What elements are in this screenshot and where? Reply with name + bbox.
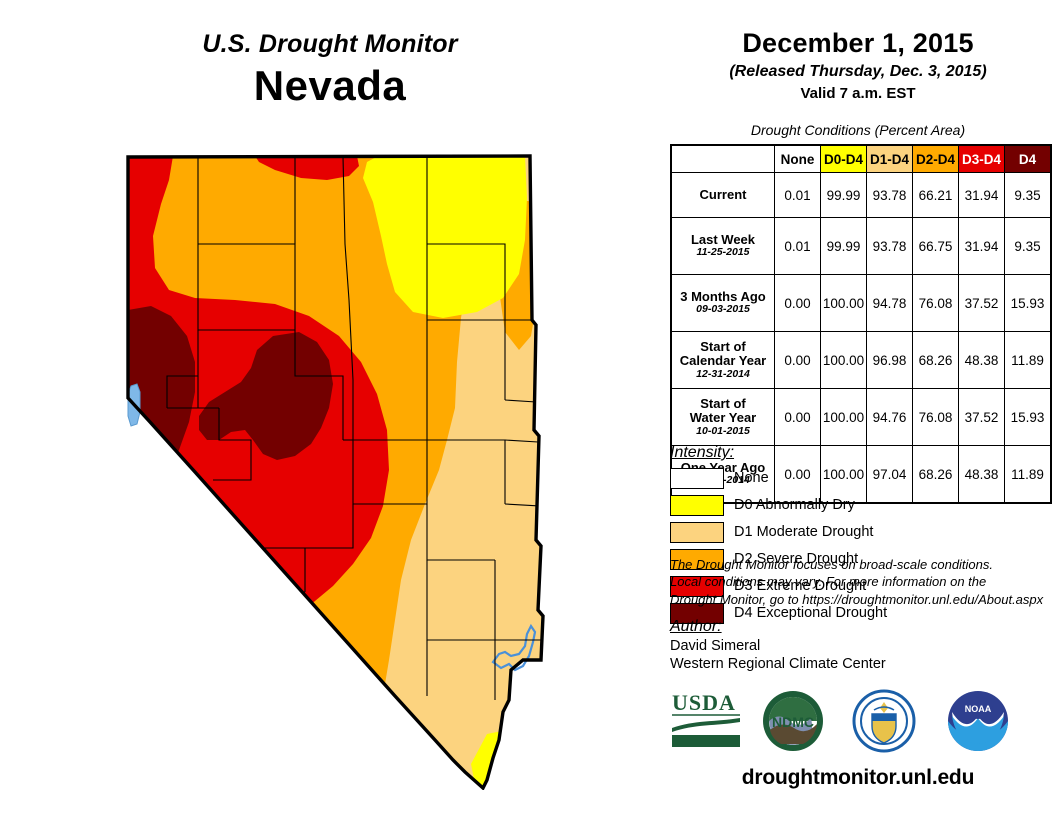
table-cell-value: 93.78 bbox=[867, 218, 913, 275]
table-cell-value: 93.78 bbox=[867, 173, 913, 218]
region-d4-south-blob bbox=[203, 588, 249, 634]
disclaimer-line-2: Local conditions may vary. For more info… bbox=[670, 573, 1055, 590]
table-cell-value: 15.93 bbox=[1005, 389, 1052, 446]
table-header-d1-d4: D1-D4 bbox=[867, 145, 913, 173]
table-row: 3 Months Ago09-03-20150.00100.0094.7876.… bbox=[671, 275, 1051, 332]
table-cell-value: 99.99 bbox=[821, 173, 867, 218]
table-cell-value: 94.78 bbox=[867, 275, 913, 332]
table-cell-value: 48.38 bbox=[959, 332, 1005, 389]
table-row-date: 09-03-2015 bbox=[674, 304, 772, 316]
author-label: Author: bbox=[670, 618, 722, 636]
table-cell-value: 100.00 bbox=[821, 332, 867, 389]
table-cell-value: 15.93 bbox=[1005, 275, 1052, 332]
table-row-label: Last Week11-25-2015 bbox=[671, 218, 775, 275]
table-header-d2-d4: D2-D4 bbox=[913, 145, 959, 173]
partner-logos: USDA NDMC bbox=[660, 688, 1056, 754]
legend-item: None bbox=[670, 466, 860, 490]
table-cell-value: 9.35 bbox=[1005, 218, 1052, 275]
legend-label: D1 Moderate Drought bbox=[734, 524, 873, 540]
table-cell-value: 66.21 bbox=[913, 173, 959, 218]
table-cell-value: 100.00 bbox=[821, 275, 867, 332]
map-svg bbox=[95, 140, 615, 790]
table-header-d4: D4 bbox=[1005, 145, 1052, 173]
author-name: David Simeral bbox=[670, 638, 760, 654]
table-cell-value: 31.94 bbox=[959, 173, 1005, 218]
table-header-d0-d4: D0-D4 bbox=[821, 145, 867, 173]
table-row-date: 12-31-2014 bbox=[674, 369, 772, 381]
table-cell-value: 66.75 bbox=[913, 218, 959, 275]
legend-label: None bbox=[734, 470, 769, 486]
author-organization: Western Regional Climate Center bbox=[670, 656, 886, 672]
usda-logo: USDA bbox=[672, 690, 740, 747]
table-cell-value: 0.01 bbox=[775, 218, 821, 275]
table-header-row: NoneD0-D4D1-D4D2-D4D3-D4D4 bbox=[671, 145, 1051, 173]
noaa-logo: NOAA bbox=[948, 691, 1008, 751]
table-row: Current0.0199.9993.7866.2131.949.35 bbox=[671, 173, 1051, 218]
table-row-date: 10-01-2015 bbox=[674, 426, 772, 438]
legend-title: Intensity: bbox=[670, 444, 734, 462]
usdoc-seal-logo bbox=[854, 691, 914, 751]
table-cell-value: 0.00 bbox=[775, 332, 821, 389]
table-cell-value: 0.01 bbox=[775, 173, 821, 218]
table-row-label: Start ofWater Year10-01-2015 bbox=[671, 389, 775, 446]
legend-item: D0 Abnormally Dry bbox=[670, 493, 860, 517]
nevada-drought-map bbox=[95, 140, 615, 790]
svg-text:NDMC: NDMC bbox=[772, 714, 814, 730]
table-cell-value: 99.99 bbox=[821, 218, 867, 275]
table-cell-value: 100.00 bbox=[821, 389, 867, 446]
table-header-none: None bbox=[775, 145, 821, 173]
table-row-label: Current bbox=[671, 173, 775, 218]
disclaimer-line-1: The Drought Monitor focuses on broad-sca… bbox=[670, 556, 1055, 573]
legend-column-left: NoneD0 Abnormally DryD1 Moderate Drought bbox=[670, 466, 860, 547]
table-cell-value: 11.89 bbox=[1005, 332, 1052, 389]
table-cell-value: 0.00 bbox=[775, 389, 821, 446]
legend-item: D1 Moderate Drought bbox=[670, 520, 860, 544]
table-cell-value: 76.08 bbox=[913, 275, 959, 332]
table-cell-value: 68.26 bbox=[913, 332, 959, 389]
table-row: Last Week11-25-20150.0199.9993.7866.7531… bbox=[671, 218, 1051, 275]
ndmc-logo: NDMC bbox=[763, 691, 823, 751]
table-caption: Drought Conditions (Percent Area) bbox=[660, 122, 1056, 138]
map-title-state: Nevada bbox=[0, 62, 660, 110]
legend-label: D0 Abnormally Dry bbox=[734, 497, 855, 513]
legend-swatch bbox=[670, 468, 724, 489]
logos-svg: USDA NDMC bbox=[660, 688, 1056, 754]
map-title-primary: U.S. Drought Monitor bbox=[0, 30, 660, 59]
report-released: (Released Thursday, Dec. 3, 2015) bbox=[660, 63, 1056, 81]
table-cell-value: 31.94 bbox=[959, 218, 1005, 275]
table-row-date: 11-25-2015 bbox=[674, 247, 772, 259]
table-cell-value: 9.35 bbox=[1005, 173, 1052, 218]
legend-swatch bbox=[670, 495, 724, 516]
report-valid-time: Valid 7 a.m. EST bbox=[660, 85, 1056, 102]
table-row: Start ofCalendar Year12-31-20140.00100.0… bbox=[671, 332, 1051, 389]
legend-swatch bbox=[670, 522, 724, 543]
table-cell-value: 37.52 bbox=[959, 275, 1005, 332]
table-cell-value: 0.00 bbox=[775, 275, 821, 332]
report-date: December 1, 2015 bbox=[660, 28, 1056, 59]
report-header: December 1, 2015 (Released Thursday, Dec… bbox=[660, 28, 1056, 102]
table-row-label: Start ofCalendar Year12-31-2014 bbox=[671, 332, 775, 389]
disclaimer-text: The Drought Monitor focuses on broad-sca… bbox=[670, 556, 1055, 608]
table-row-label: 3 Months Ago09-03-2015 bbox=[671, 275, 775, 332]
disclaimer-line-3: Drought Monitor, go to https://droughtmo… bbox=[670, 591, 1055, 608]
site-url: droughtmonitor.unl.edu bbox=[660, 766, 1056, 790]
table-row: Start ofWater Year10-01-20150.00100.0094… bbox=[671, 389, 1051, 446]
table-cell-value: 76.08 bbox=[913, 389, 959, 446]
table-header-corner bbox=[671, 145, 775, 173]
table-cell-value: 94.76 bbox=[867, 389, 913, 446]
table-cell-value: 96.98 bbox=[867, 332, 913, 389]
svg-text:NOAA: NOAA bbox=[965, 704, 992, 714]
table-header-d3-d4: D3-D4 bbox=[959, 145, 1005, 173]
svg-text:USDA: USDA bbox=[672, 690, 736, 715]
table-cell-value: 37.52 bbox=[959, 389, 1005, 446]
